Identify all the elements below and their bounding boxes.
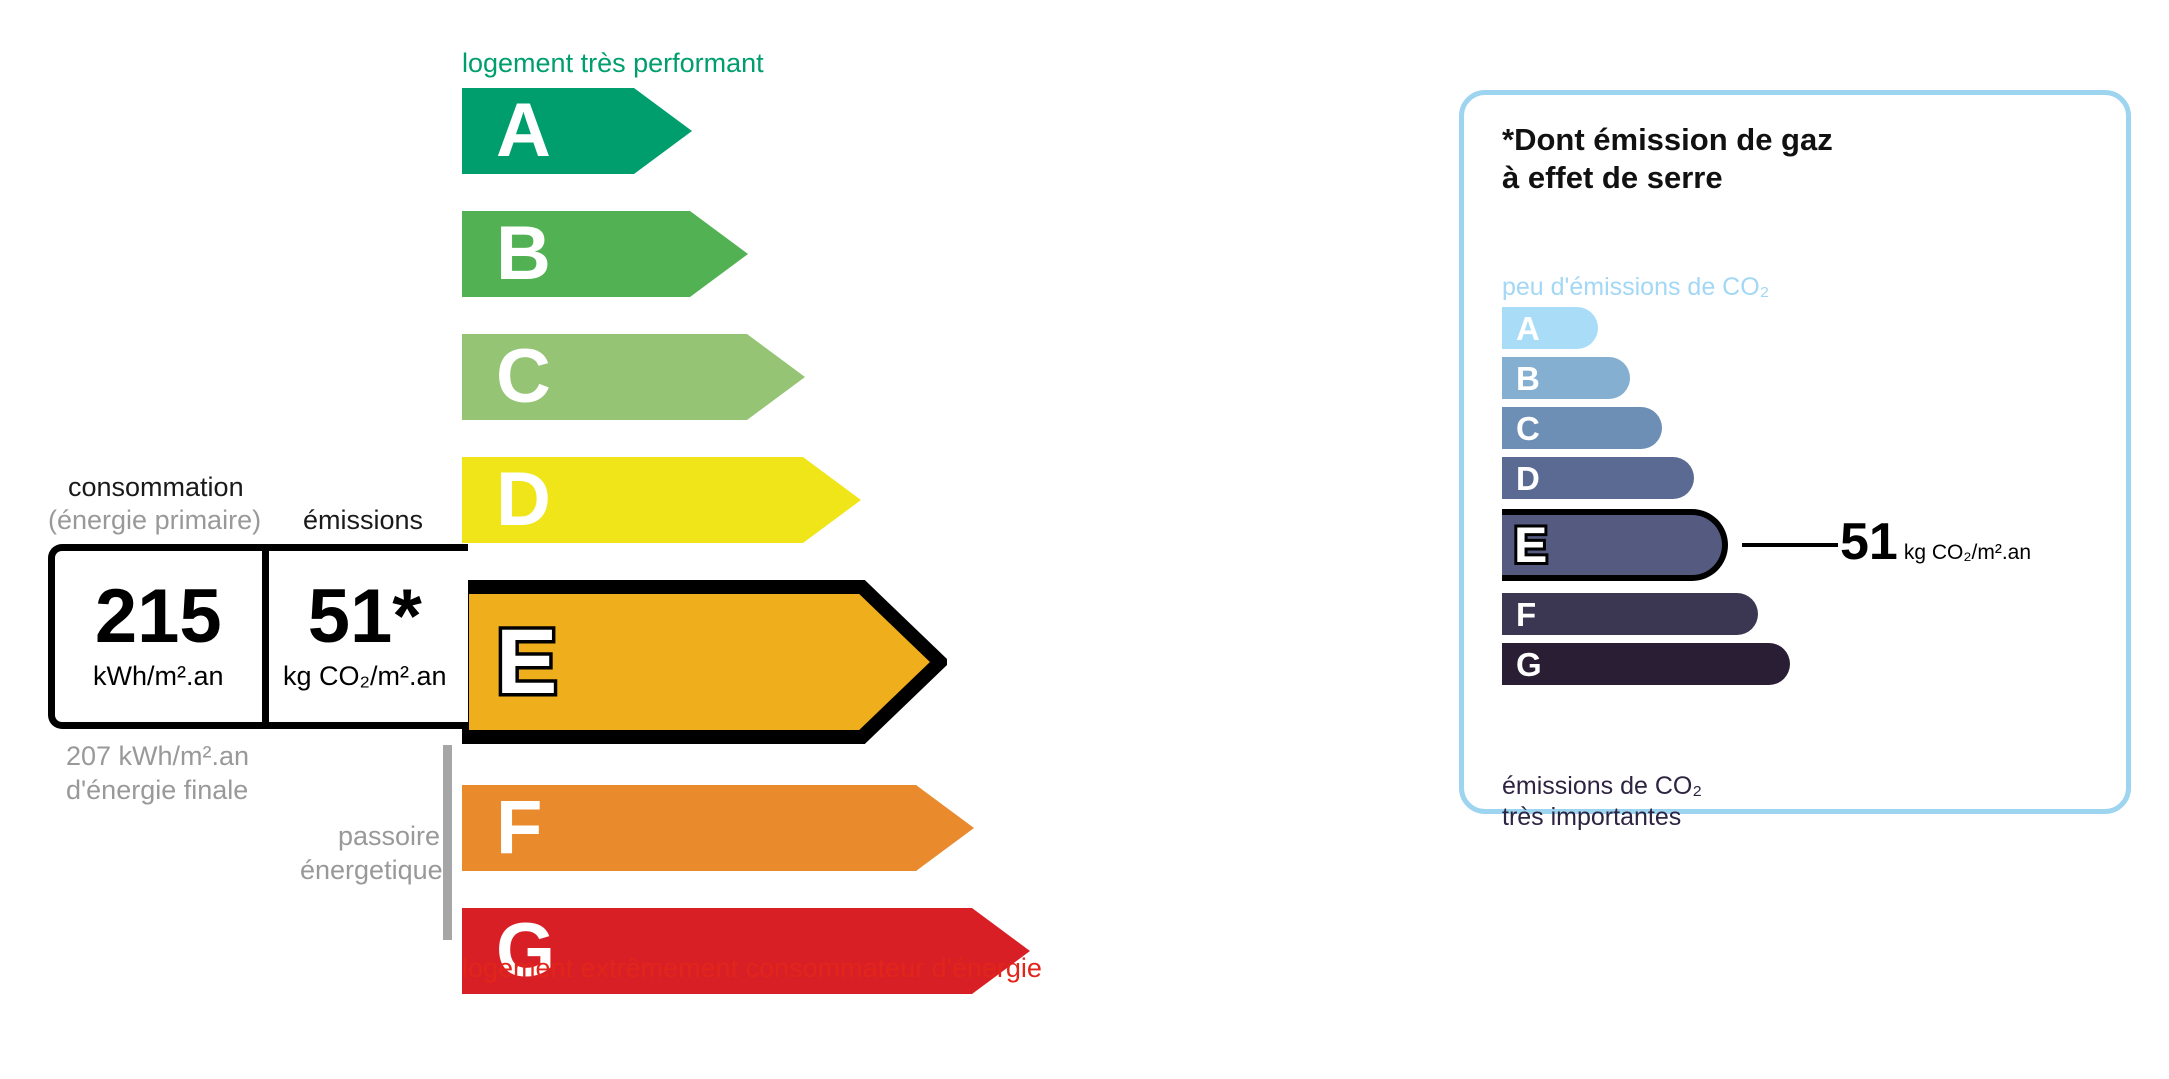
- dpe-infographic: logement très performant ABCDEFG logemen…: [0, 0, 2169, 1079]
- consumption-unit: kWh/m².an: [93, 661, 224, 692]
- emission-value: 51*: [308, 581, 422, 653]
- consumption-label: consommation: [68, 472, 244, 503]
- energy-class-letter-b: B: [496, 216, 551, 292]
- co2-class-letter-c: C: [1516, 412, 1540, 445]
- passoire-bracket-bar: [443, 745, 452, 940]
- co2-class-row-e: E51kg CO₂/m².an: [1502, 509, 1790, 581]
- final-energy-line-2: d'énergie finale: [66, 774, 249, 808]
- top-legend-label: logement très performant: [462, 48, 764, 79]
- co2-legend-bottom-line-1: émissions de CO₂: [1502, 771, 1702, 802]
- co2-leader-line: [1742, 543, 1838, 547]
- co2-class-row-b: B: [1502, 357, 1790, 399]
- emission-value-cell: 51* kg CO₂/m².an: [262, 551, 469, 722]
- passoire-energetique-note: passoire énergetique: [300, 820, 440, 888]
- co2-class-bar-list: ABCDE51kg CO₂/m².anFG: [1502, 307, 1790, 693]
- co2-value-callout: 51kg CO₂/m².an: [1840, 512, 2031, 572]
- co2-class-letter-f: F: [1516, 598, 1536, 631]
- co2-class-letter-g: G: [1516, 648, 1542, 681]
- energy-class-arrow-b: B: [462, 211, 1030, 297]
- co2-emissions-panel: *Dont émission de gaz à effet de serre p…: [1459, 90, 2131, 814]
- co2-panel-title: *Dont émission de gaz à effet de serre: [1502, 121, 1833, 197]
- co2-class-bar-g: G: [1502, 643, 1790, 685]
- co2-title-line-2: à effet de serre: [1502, 159, 1833, 197]
- energy-class-letter-c: C: [496, 339, 551, 415]
- passoire-line-1: passoire: [300, 820, 440, 854]
- co2-class-row-a: A: [1502, 307, 1790, 349]
- energy-class-arrow-list: ABCDEFG: [462, 88, 1030, 1031]
- energy-class-arrow-a: A: [462, 88, 1030, 174]
- final-energy-note: 207 kWh/m².an d'énergie finale: [66, 740, 249, 808]
- energy-class-letter-e: E: [496, 616, 557, 708]
- co2-class-bar-c: C: [1502, 407, 1662, 449]
- energy-performance-chart: logement très performant ABCDEFG logemen…: [0, 0, 1400, 1079]
- co2-class-letter-d: D: [1516, 462, 1540, 495]
- energy-class-letter-a: A: [496, 93, 551, 169]
- co2-class-bar-b: B: [1502, 357, 1630, 399]
- co2-class-bar-e: E: [1502, 509, 1728, 581]
- co2-class-row-g: G: [1502, 643, 1790, 685]
- co2-class-bar-d: D: [1502, 457, 1694, 499]
- co2-class-letter-b: B: [1516, 362, 1540, 395]
- co2-class-row-f: F: [1502, 593, 1790, 635]
- energy-class-arrow-f: F: [462, 785, 1030, 871]
- co2-class-bar-f: F: [1502, 593, 1758, 635]
- consumption-sublabel: (énergie primaire): [48, 505, 261, 536]
- co2-value: 51: [1840, 513, 1898, 571]
- co2-value-unit: kg CO₂/m².an: [1904, 541, 2031, 564]
- passoire-line-2: énergetique: [300, 854, 440, 888]
- energy-class-arrow-c: C: [462, 334, 1030, 420]
- co2-legend-bottom-line-2: très importantes: [1502, 802, 1702, 833]
- emission-unit: kg CO₂/m².an: [283, 661, 447, 692]
- co2-class-row-c: C: [1502, 407, 1790, 449]
- energy-class-arrow-d: D: [462, 457, 1030, 543]
- co2-legend-bottom: émissions de CO₂ très importantes: [1502, 771, 1702, 834]
- co2-class-bar-a: A: [1502, 307, 1598, 349]
- co2-class-row-d: D: [1502, 457, 1790, 499]
- consumption-value-cell: 215 kWh/m².an: [55, 551, 262, 722]
- co2-class-letter-a: A: [1516, 312, 1540, 345]
- consumption-value: 215: [95, 581, 222, 653]
- energy-class-letter-d: D: [496, 462, 551, 538]
- final-energy-line-1: 207 kWh/m².an: [66, 740, 249, 774]
- energy-class-letter-f: F: [496, 790, 542, 866]
- values-box: 215 kWh/m².an 51* kg CO₂/m².an: [48, 544, 468, 729]
- co2-title-line-1: *Dont émission de gaz: [1502, 121, 1833, 159]
- bottom-legend-label: logement extrêmement consommateur d'éner…: [462, 953, 1042, 984]
- emissions-label: émissions: [303, 505, 423, 536]
- energy-class-arrow-e: E: [462, 580, 1030, 744]
- co2-class-letter-e: E: [1514, 520, 1547, 570]
- co2-legend-top: peu d'émissions de CO₂: [1502, 273, 1769, 302]
